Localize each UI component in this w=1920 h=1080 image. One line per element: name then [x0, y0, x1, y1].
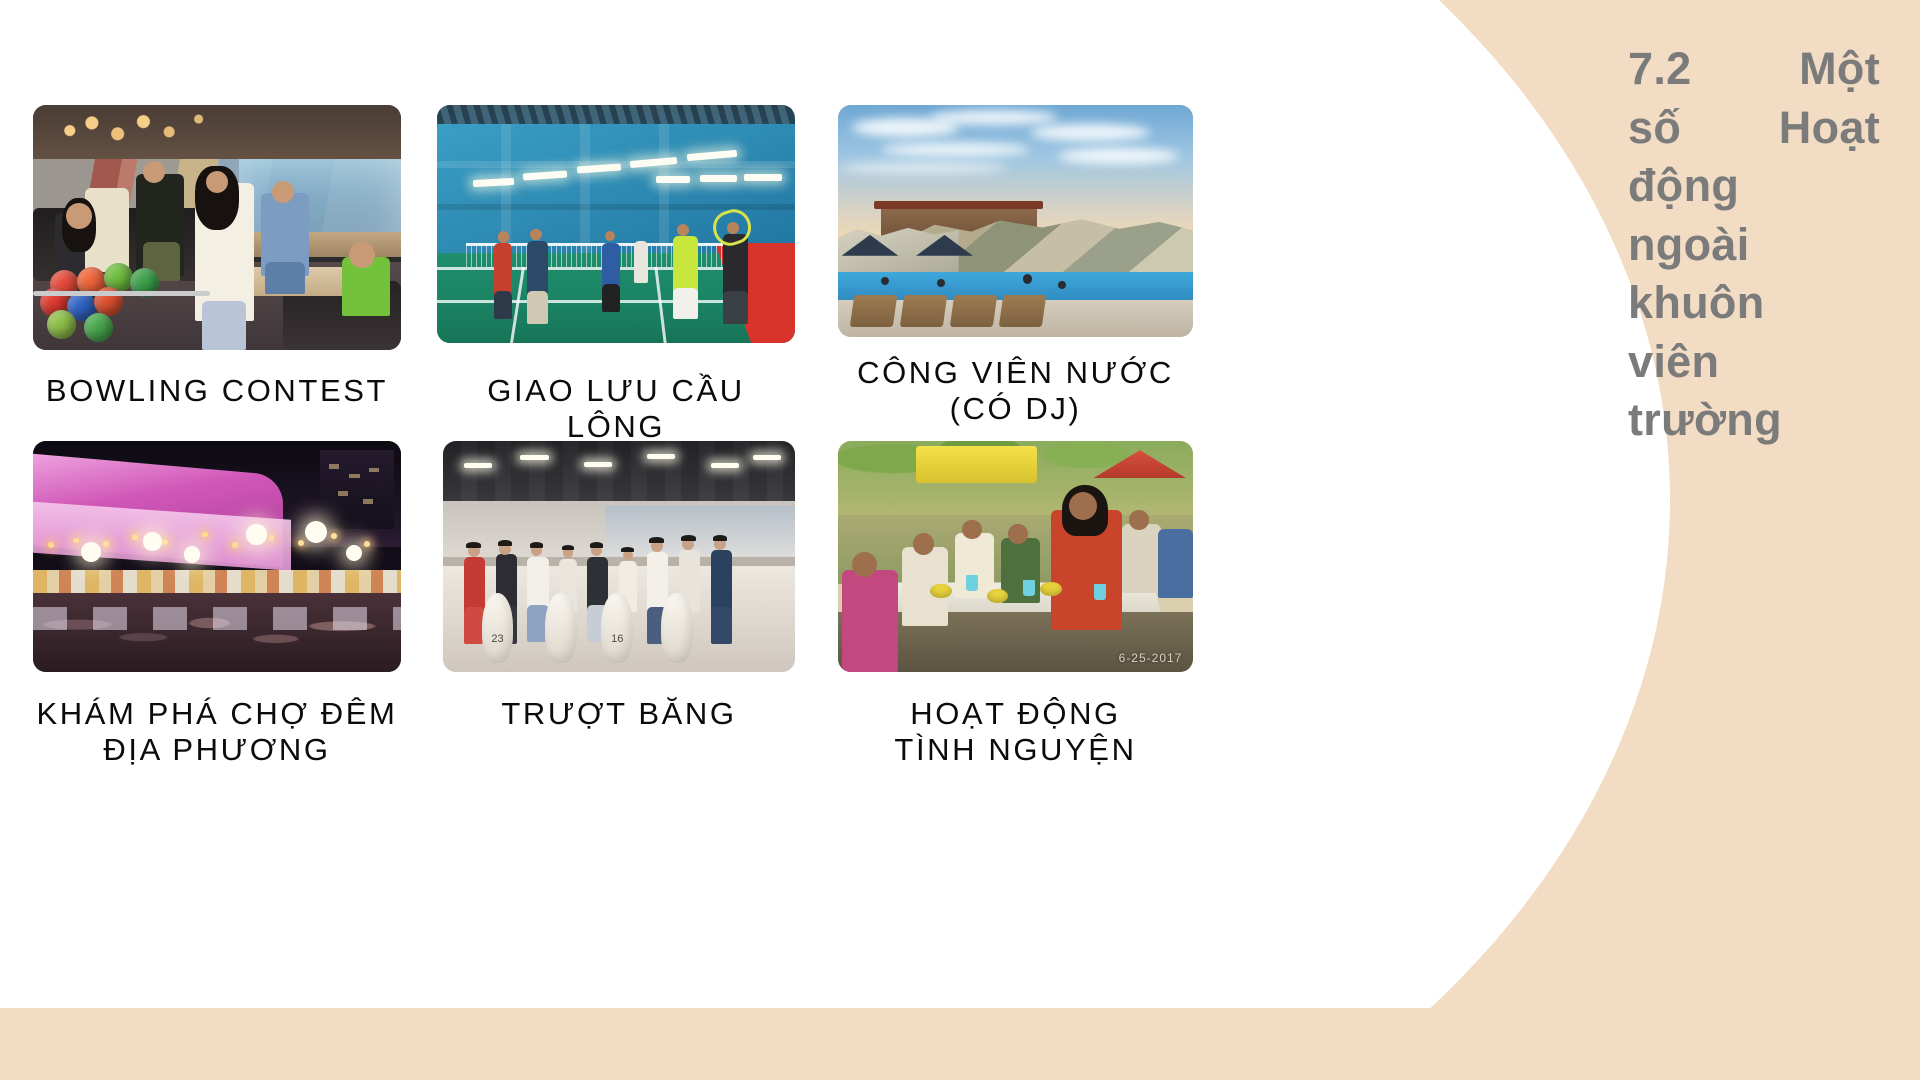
fluorescent-light [630, 157, 678, 168]
market-tables [33, 607, 401, 630]
globe-lanterns [33, 510, 401, 589]
photo-water-park-scene [838, 105, 1193, 337]
seal-skating-aid [545, 593, 577, 662]
head-shape [651, 540, 663, 552]
sun-lounger [949, 295, 996, 327]
photo-volunteer-scene: 6-25-2017 [838, 441, 1193, 672]
ball-rail [33, 291, 210, 296]
skater-figure [527, 557, 548, 612]
caption-water-park: CÔNG VIÊN NƯỚC (CÓ DJ) [838, 355, 1193, 428]
slide-canvas: BOWLING CONTEST [0, 0, 1920, 1080]
section-title-line: ngoài [1628, 216, 1880, 275]
globe-lantern [143, 532, 161, 550]
ceiling-light [647, 454, 675, 459]
photo-gallery: BOWLING CONTEST [0, 0, 1500, 1010]
hair-shape [562, 545, 575, 550]
seal-skating-aid [661, 593, 693, 662]
head-shape [962, 520, 982, 540]
sun-lounger [900, 295, 947, 327]
window-light [329, 464, 339, 469]
globe-lantern [246, 524, 266, 544]
section-title-line: viên [1628, 333, 1880, 392]
ceiling-light [464, 463, 492, 468]
head-shape [66, 203, 92, 229]
head-shape [852, 552, 877, 577]
photo-bowling-contest-scene [33, 105, 401, 350]
bowling-ball [47, 310, 76, 339]
photo-night-market-scene [33, 441, 401, 672]
gallery-item-volunteer-activity[interactable]: 6-25-2017 HOẠT ĐỘNG TÌNH NGUYỆN [838, 441, 1193, 672]
swimmer [1023, 274, 1032, 283]
person-figure [1122, 524, 1161, 593]
bowling-ball-rack [37, 262, 206, 345]
cloud [881, 143, 1030, 156]
section-title: 7.2 Một số Hoạt động ngoài khuôn viên tr… [1628, 40, 1880, 450]
person-figure [265, 262, 305, 294]
photo-volunteer-activity[interactable]: 6-25-2017 [838, 441, 1193, 672]
food-bowl [930, 584, 951, 598]
hair-shape [713, 535, 727, 541]
photo-bowling-contest[interactable] [33, 105, 401, 350]
head-shape [468, 545, 480, 557]
seal-skating-aid: 23 [482, 593, 514, 662]
cloud [930, 110, 1058, 125]
caption-local-night-market: KHÁM PHÁ CHỢ ĐÊM ĐỊA PHƯƠNG [33, 696, 401, 769]
caption-volunteer-activity: HOẠT ĐỘNG TÌNH NGUYỆN [838, 696, 1193, 769]
photo-date-watermark: 6-25-2017 [1119, 651, 1183, 665]
gallery-item-bowling-contest[interactable]: BOWLING CONTEST [33, 105, 401, 350]
seal-skating-aid: 16 [601, 593, 633, 662]
hair-shape [681, 535, 695, 541]
window-light [349, 474, 359, 479]
photo-badminton-exchange[interactable] [437, 105, 795, 343]
photo-badminton-scene [437, 105, 795, 343]
fluorescent-light [687, 150, 738, 161]
player-figure [723, 291, 748, 324]
swimmer [1058, 281, 1066, 289]
skater-figure [711, 607, 732, 644]
cloud [1058, 148, 1179, 164]
fluorescent-light [700, 175, 738, 182]
section-title-line: động [1628, 157, 1880, 216]
ceiling-light [520, 455, 548, 460]
person-figure [842, 570, 899, 672]
hair-shape [590, 542, 604, 548]
hair-shape [649, 537, 663, 543]
player-figure [673, 288, 698, 319]
head-shape [499, 543, 511, 555]
person-figure [202, 301, 246, 350]
caption-bowling-contest: BOWLING CONTEST [33, 373, 401, 409]
hair-shape [466, 542, 480, 548]
head-shape [623, 550, 634, 561]
photo-ice-skating-scene: 23 16 [443, 441, 795, 672]
head-shape [349, 242, 375, 268]
window-light [369, 468, 379, 473]
section-title-line: 7.2 Một [1628, 40, 1880, 99]
head-shape [714, 538, 726, 550]
fluorescent-light [656, 176, 691, 183]
head-shape [1008, 524, 1028, 544]
player-figure [602, 284, 620, 313]
cloud [1030, 124, 1151, 141]
head-shape [913, 533, 934, 554]
section-title-line: trường [1628, 391, 1880, 450]
photo-ice-skating[interactable]: 23 16 [443, 441, 795, 672]
court-line [654, 267, 666, 343]
player-figure [527, 241, 548, 298]
drink-cup [1023, 580, 1035, 596]
gallery-item-badminton-exchange[interactable]: GIAO LƯU CẦU LÔNG [437, 105, 795, 343]
gallery-item-local-night-market[interactable]: KHÁM PHÁ CHỢ ĐÊM ĐỊA PHƯƠNG [33, 441, 401, 672]
bottom-accent-band [0, 1008, 1920, 1080]
seal-number: 23 [482, 633, 514, 645]
window-light [363, 499, 373, 504]
window-light [338, 491, 348, 496]
globe-lantern [305, 521, 327, 543]
caption-badminton-exchange: GIAO LƯU CẦU LÔNG [437, 373, 795, 446]
sun-lounger [999, 295, 1046, 327]
gallery-item-ice-skating[interactable]: 23 16 TRƯỢT BĂNG [443, 441, 795, 672]
section-title-line: số Hoạt [1628, 99, 1880, 158]
sun-lounger [850, 295, 897, 327]
player-figure [527, 291, 548, 324]
globe-lantern [81, 542, 101, 562]
fluorescent-light [473, 178, 514, 187]
rink-ceiling [443, 441, 795, 506]
swimmer [937, 279, 945, 287]
hall-light-array [473, 143, 788, 205]
cloud [838, 162, 1008, 174]
photo-water-park[interactable] [838, 105, 1193, 337]
ceiling-light [584, 462, 612, 467]
food-bowl [1040, 582, 1061, 596]
drink-cup [1094, 584, 1106, 600]
hair-shape [530, 542, 544, 548]
photo-local-night-market[interactable] [33, 441, 401, 672]
market-crowd [33, 593, 401, 672]
player-figure [494, 291, 512, 320]
fluorescent-light [744, 174, 782, 181]
hair-shape [621, 547, 634, 552]
gallery-item-water-park[interactable]: CÔNG VIÊN NƯỚC (CÓ DJ) [838, 105, 1193, 337]
yellow-banner [916, 446, 1037, 483]
fluorescent-light [577, 164, 621, 174]
skater-figure [711, 550, 732, 612]
bowling-ball [84, 313, 113, 342]
head-shape [498, 231, 509, 242]
head-shape [1129, 510, 1149, 530]
person-figure [1158, 529, 1194, 598]
hair-shape [498, 540, 512, 546]
seal-number: 16 [601, 633, 633, 645]
section-title-line: khuôn [1628, 274, 1880, 333]
ceiling-light [711, 463, 739, 468]
head-shape [530, 229, 541, 240]
head-shape [563, 547, 574, 558]
ceiling-light [753, 455, 781, 460]
globe-lantern [346, 545, 363, 562]
globe-lantern [184, 546, 201, 563]
caption-ice-skating: TRƯỢT BĂNG [443, 696, 795, 732]
fluorescent-light [523, 171, 567, 181]
player-figure [634, 241, 648, 284]
drink-cup [966, 575, 978, 591]
